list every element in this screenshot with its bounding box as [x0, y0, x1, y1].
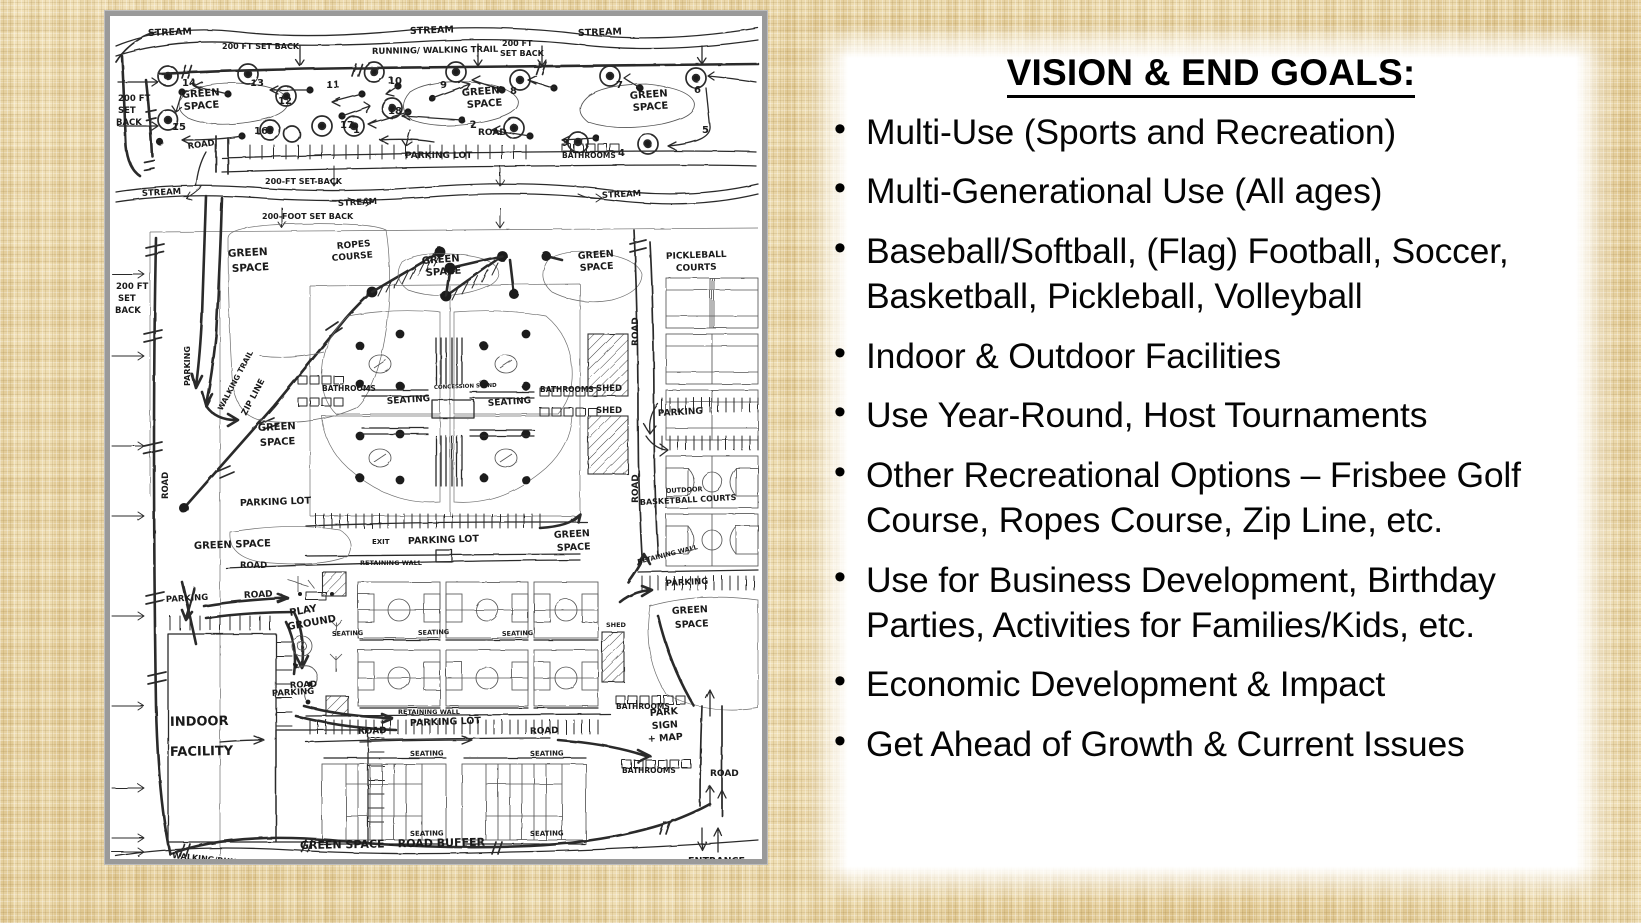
map-label: BATHROOMS [622, 766, 676, 775]
map-label: PARKING [666, 577, 709, 589]
map-label: COURSE [331, 250, 373, 264]
vision-goals-panel: VISION & END GOALS: Multi-Use (Sports an… [806, 24, 1616, 900]
mid-stream-zone [116, 166, 758, 228]
goal-item: Use for Business Development, Birthday P… [822, 558, 1608, 649]
map-label: GREEN [461, 85, 500, 99]
goal-item: Other Recreational Options – Frisbee Gol… [822, 453, 1608, 544]
map-label: SPACE [579, 261, 613, 274]
map-label: GREEN [228, 246, 268, 260]
map-label: SPACE [632, 101, 668, 114]
frisbee-hole-number: 8 [510, 86, 517, 97]
map-label: SEATING [530, 749, 564, 758]
map-label: ROAD [244, 590, 273, 601]
map-label: GREEN SPACE [194, 538, 271, 552]
map-label: GREEN [577, 249, 614, 262]
football-fields [322, 764, 586, 840]
frisbee-hole-number: 9 [440, 80, 447, 91]
frisbee-hole-number: 7 [616, 80, 623, 91]
frisbee-hole-number: 11 [326, 80, 340, 91]
map-label: BACK [115, 306, 141, 316]
map-label: PARKING [183, 346, 192, 386]
map-label: BACK [116, 118, 142, 128]
goal-item: Multi-Generational Use (All ages) [822, 169, 1608, 214]
map-label: GREEN [672, 604, 709, 617]
frisbee-hole-number: 17 [340, 120, 354, 131]
map-label: + MAP [647, 732, 683, 745]
south-zone [220, 632, 691, 844]
map-label: PARKING [166, 593, 209, 605]
map-label: 200-FOOT SET BACK [262, 212, 354, 221]
frisbee-golf-hole-numbers: 123456789101112131415161718 [172, 76, 709, 159]
map-label: ROAD [631, 474, 641, 503]
map-label: RETAINING WALL [398, 708, 460, 716]
map-label: SHED [596, 384, 622, 394]
map-label: PARKING LOT [408, 534, 480, 547]
map-label: ZIP LINE [240, 377, 268, 417]
map-label: PARKING LOT [240, 496, 312, 509]
map-label: SPACE [466, 98, 502, 111]
map-label: SET [118, 106, 136, 116]
map-label: ROAD [358, 726, 387, 737]
goal-item: Indoor & Outdoor Facilities [822, 334, 1608, 379]
map-label: OUTDOOR [666, 485, 703, 495]
map-label: SPACE [557, 541, 591, 554]
goal-item: Multi-Use (Sports and Recreation) [822, 110, 1608, 155]
map-label: STREAM [148, 26, 192, 39]
baseball-cloverleaf [322, 311, 572, 503]
map-label: SIGN [651, 719, 678, 732]
map-label: SEATING [387, 394, 431, 407]
map-label: ROAD [240, 561, 267, 571]
map-label: SPACE [232, 261, 270, 275]
frisbee-hole-number: 18 [388, 106, 402, 117]
map-label: SEATING [418, 628, 450, 637]
map-label: COURTS [676, 263, 717, 274]
map-label: SPACE [260, 436, 296, 449]
frisbee-hole-number: 5 [702, 125, 709, 136]
soccer-fields [358, 582, 598, 706]
shed-south-soccer [602, 632, 624, 682]
map-label: SHED [606, 621, 627, 629]
map-label: PARKING [272, 687, 315, 699]
map-label: STREAM [410, 24, 454, 37]
frisbee-hole-number: 1 [353, 125, 360, 136]
map-label: SEATING [488, 396, 532, 409]
map-label: ENTRANCE [688, 856, 745, 859]
map-label: WALKING/RUNNING [172, 851, 260, 859]
map-label: GREEN [258, 421, 296, 434]
map-label: 200-FT SET-BACK [265, 177, 343, 186]
map-label: ROAD [478, 128, 507, 138]
map-label: SPACE [425, 266, 461, 279]
map-label: 200 FT [502, 39, 533, 48]
page-title: VISION & END GOALS: [806, 52, 1616, 94]
site-plan-map[interactable]: 123456789101112131415161718 [105, 11, 767, 864]
southwest-zone [168, 572, 396, 842]
frisbee-hole-number: 2 [470, 120, 477, 131]
map-label: EXIT [372, 538, 390, 546]
frisbee-hole-number: 10 [388, 76, 402, 87]
map-label: PARK [649, 706, 678, 719]
map-label: SET [118, 294, 136, 304]
goals-list: Multi-Use (Sports and Recreation)Multi-G… [822, 110, 1608, 781]
site-plan-drawing: 123456789101112131415161718 [110, 16, 762, 859]
frisbee-hole-number: 16 [254, 126, 268, 137]
east-zone [620, 230, 758, 710]
map-label: STREAM [602, 189, 642, 201]
map-label: 200 FT [116, 282, 149, 292]
goal-item: Get Ahead of Growth & Current Issues [822, 722, 1608, 767]
map-label: PICKLEBALL [666, 250, 727, 262]
map-label: GREEN SPACE – ROAD BUFFER [300, 836, 486, 852]
map-label: INDOOR [170, 714, 229, 730]
frisbee-hole-number: 14 [182, 78, 196, 89]
map-label: ROAD [530, 726, 559, 737]
map-label: PARKING [658, 407, 703, 419]
slide-background: 123456789101112131415161718 [0, 0, 1641, 923]
frisbee-hole-number: 13 [250, 78, 264, 89]
map-label: 200 FT SET BACK [222, 42, 300, 51]
map-label: BATHROOMS [540, 385, 594, 394]
map-label: 200 FT [118, 94, 151, 104]
map-label: RUNNING/ WALKING TRAIL [372, 45, 499, 57]
map-label: SEATING [530, 829, 564, 838]
map-label: BASKETBALL COURTS [640, 493, 737, 507]
map-label: SEATING [410, 749, 444, 758]
map-label: SEATING [332, 629, 364, 638]
map-label: CONCESSION STAND [434, 383, 497, 391]
map-label: SEATING [502, 629, 534, 638]
map-label: ROAD [631, 317, 641, 346]
map-label: GREEN [554, 528, 591, 541]
parking-east-lower [662, 436, 758, 450]
map-label: SPACE [675, 618, 709, 631]
page-title-text: VISION & END GOALS: [1007, 52, 1416, 98]
map-label: PARKING LOT [405, 151, 473, 161]
map-label: FACILITY [170, 744, 234, 760]
map-label: STREAM [338, 197, 378, 209]
map-label: ROAD [710, 769, 739, 779]
frisbee-hole-number: 15 [172, 122, 186, 133]
map-label: BATHROOMS [322, 384, 376, 393]
west-road [112, 196, 377, 856]
map-label: STREAM [142, 187, 182, 199]
map-label: BATHROOMS [562, 151, 616, 160]
map-label: SHED [596, 406, 622, 416]
shed-south [588, 416, 628, 474]
goal-item: Economic Development & Impact [822, 662, 1608, 707]
goal-item: Baseball/Softball, (Flag) Football, Socc… [822, 229, 1608, 320]
goal-item: Use Year-Round, Host Tournaments [822, 393, 1608, 438]
map-label: PARKING LOT [410, 716, 482, 729]
map-label: ROAD [161, 472, 171, 499]
map-label: STREAM [578, 26, 622, 39]
frisbee-hole-number: 12 [278, 96, 292, 107]
map-label: SPACE [183, 100, 219, 113]
map-label: SET BACK [500, 49, 545, 58]
frisbee-hole-number: 6 [694, 85, 701, 96]
map-label: RETAINING WALL [360, 559, 422, 567]
